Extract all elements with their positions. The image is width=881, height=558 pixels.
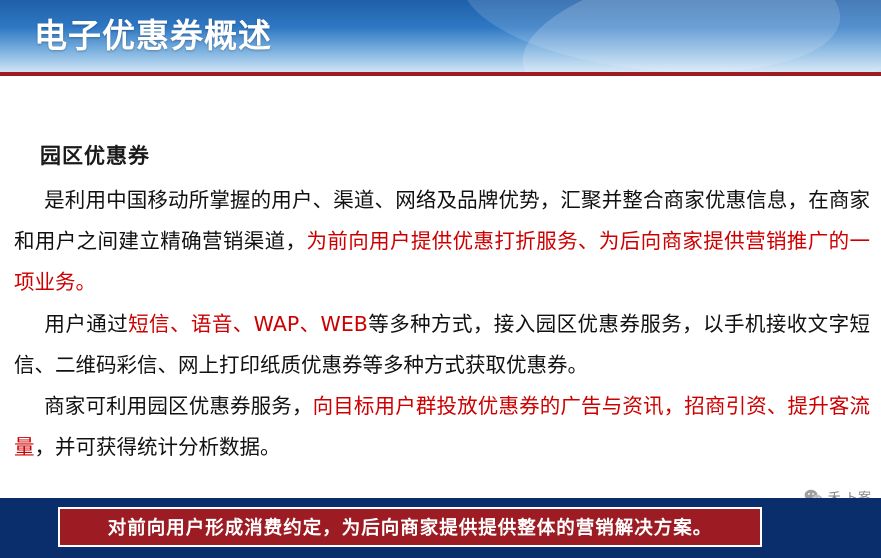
paragraph-user-channels: 用户通过短信、语音、WAP、WEB等多种方式，接入园区优惠券服务，以手机接收文字… <box>14 304 870 386</box>
paragraph-merchant-usage: 商家可利用园区优惠券服务，向目标用户群投放优惠券的广告与资讯，招商引资、提升客流… <box>14 386 870 468</box>
text-run-plain-2: ，并可获得统计分析数据。 <box>35 435 281 459</box>
paragraph-definition: 是利用中国移动所掌握的用户、渠道、网络及品牌优势，汇聚并整合商家优惠信息，在商家… <box>14 180 870 303</box>
slide-body: 园区优惠券 是利用中国移动所掌握的用户、渠道、网络及品牌优势，汇聚并整合商家优惠… <box>0 76 881 558</box>
slide-header: 电子优惠券概述 <box>0 0 881 72</box>
footer-highlight-box: 对前向用户形成消费约定，为后向商家提供提供整体的营销解决方案。 <box>58 507 762 547</box>
slide: 电子优惠券概述 园区优惠券 是利用中国移动所掌握的用户、渠道、网络及品牌优势，汇… <box>0 0 881 558</box>
page-title: 电子优惠券概述 <box>34 10 272 62</box>
section-subheading: 园区优惠券 <box>40 140 150 170</box>
text-run-plain: 商家可利用园区优惠券服务， <box>44 394 313 418</box>
text-run-highlight: 短信、语音、WAP、WEB <box>128 312 368 336</box>
footer-banner-text: 对前向用户形成消费约定，为后向商家提供提供整体的营销解决方案。 <box>108 514 713 540</box>
footer-band: 对前向用户形成消费约定，为后向商家提供提供整体的营销解决方案。 <box>0 498 881 558</box>
text-run-plain: 用户通过 <box>44 312 128 336</box>
